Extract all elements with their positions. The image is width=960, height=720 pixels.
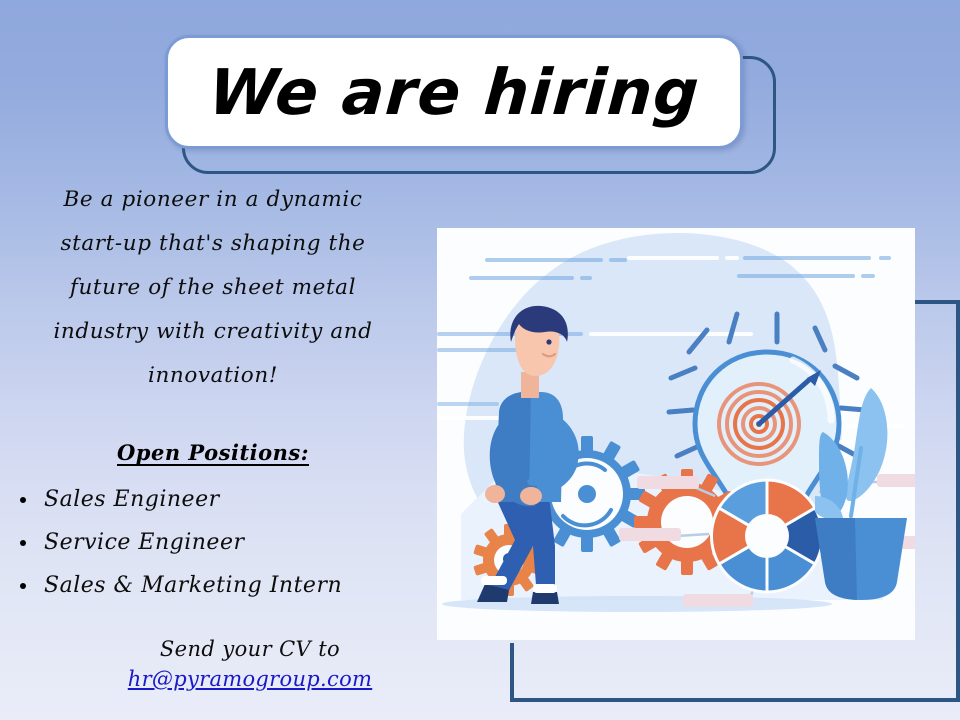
intro-line: industry with creativity and (8, 310, 418, 354)
intro-paragraph: Be a pioneer in a dynamic start-up that'… (8, 178, 418, 398)
bullet-icon (20, 497, 26, 503)
cv-contact-block: Send your CV to hr@pyramogroup.com (80, 634, 420, 694)
list-item: Sales & Marketing Intern (8, 564, 418, 607)
page-title: We are hiring (207, 61, 702, 124)
open-positions-list: Sales Engineer Service Engineer Sales & … (8, 478, 418, 607)
email-link[interactable]: hr@pyramogroup.com (128, 664, 372, 694)
intro-line: start-up that's shaping the (8, 222, 418, 266)
illustration-image (437, 228, 915, 640)
bullet-icon (20, 540, 26, 546)
intro-line: future of the sheet metal (8, 266, 418, 310)
list-item: Sales Engineer (8, 478, 418, 521)
title-box: We are hiring (165, 35, 743, 149)
frame-line-bottom (510, 698, 960, 702)
position-label: Sales & Marketing Intern (44, 573, 342, 598)
intro-line: Be a pioneer in a dynamic (8, 178, 418, 222)
intro-line: innovation! (8, 354, 418, 398)
bullet-icon (20, 583, 26, 589)
position-label: Sales Engineer (44, 487, 220, 512)
frame-line-left (510, 643, 514, 702)
donut-segments (711, 480, 822, 592)
open-positions-heading: Open Positions: (8, 440, 418, 465)
frame-line-right (956, 300, 960, 702)
list-item: Service Engineer (8, 521, 418, 564)
hiring-poster: We are hiring Be a pioneer in a dynamic … (0, 0, 960, 720)
position-label: Service Engineer (44, 530, 244, 555)
cv-call-to-action: Send your CV to (80, 634, 420, 664)
